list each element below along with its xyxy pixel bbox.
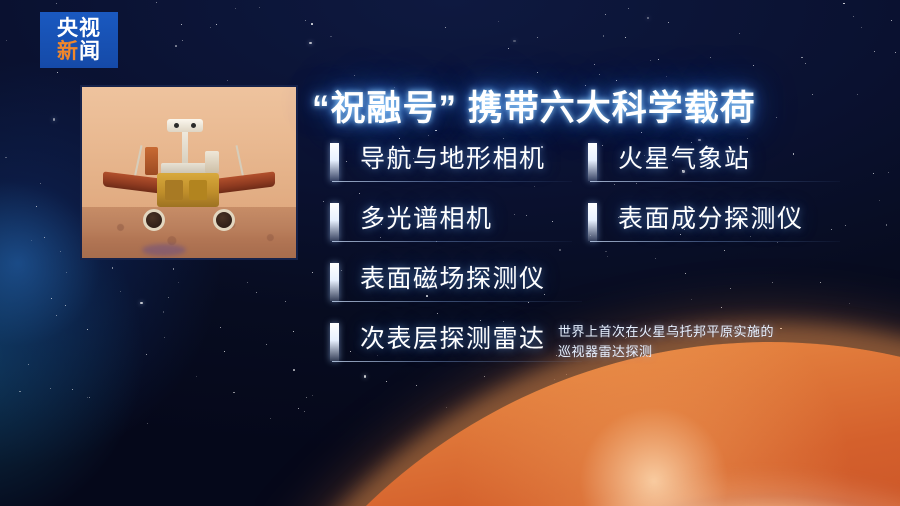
payload-label: 表面成分探测仪	[618, 199, 804, 235]
logo-char-yang: 央	[57, 18, 79, 39]
payload-label: 表面磁场探测仪	[360, 259, 546, 295]
bullet-bar-icon	[330, 203, 339, 241]
payload-item-surface-composition-detector[interactable]: 表面成分探测仪	[588, 200, 846, 246]
bullet-bar-icon	[330, 263, 339, 301]
payload-label: 导航与地形相机	[360, 139, 546, 175]
logo-char-shi: 视	[79, 18, 101, 39]
payload-item-nav-terrain-camera[interactable]: 导航与地形相机	[330, 140, 578, 186]
cctv-news-logo[interactable]: 央 视 新 闻	[40, 12, 118, 68]
rover-photo	[80, 85, 298, 260]
logo-line-two: 新 闻	[57, 41, 101, 62]
underline-rule	[332, 241, 572, 242]
underline-rule	[590, 181, 840, 182]
underline-rule	[590, 241, 840, 242]
logo-char-wen: 闻	[79, 41, 101, 62]
payload-item-subsurface-radar[interactable]: 次表层探测雷达	[330, 320, 588, 366]
solar-panel-right	[217, 171, 275, 193]
underline-rule	[332, 181, 572, 182]
payload-item-mars-weather-station[interactable]: 火星气象站	[588, 140, 846, 186]
zhurong-rover-icon	[109, 111, 269, 247]
payload-label: 次表层探测雷达	[360, 319, 546, 355]
broadcast-graphic-stage: 央 视 新 闻 “祝融号” 携带六大科学载荷 导航与地形相机火星气象站多光谱相机…	[0, 0, 900, 506]
logo-line-one: 央 视	[57, 18, 101, 39]
antenna-left	[133, 145, 142, 179]
bullet-bar-icon	[330, 143, 339, 181]
instrument-cylinder	[145, 147, 158, 175]
radar-note: 世界上首次在火星乌托邦平原实施的 巡视器雷达探测	[558, 322, 858, 361]
camera-head	[167, 119, 203, 132]
radar-note-line-2: 巡视器雷达探测	[558, 342, 858, 362]
instrument-canister	[205, 151, 219, 173]
payload-item-surface-magnetic-field-detector[interactable]: 表面磁场探测仪	[330, 260, 588, 306]
bullet-bar-icon	[330, 323, 339, 361]
payload-label: 多光谱相机	[360, 199, 493, 235]
radar-note-line-1: 世界上首次在火星乌托邦平原实施的	[558, 322, 858, 342]
logo-char-xin: 新	[57, 41, 79, 62]
bullet-bar-icon	[588, 203, 597, 241]
rover-body	[157, 173, 219, 207]
page-title: “祝融号” 携带六大科学载荷	[312, 80, 756, 131]
wheel-left	[143, 209, 165, 231]
payload-label: 火星气象站	[618, 139, 751, 175]
bullet-bar-icon	[588, 143, 597, 181]
underline-rule	[332, 361, 582, 362]
wheel-right	[213, 209, 235, 231]
antenna-right	[235, 145, 244, 179]
payload-item-multispectral-camera[interactable]: 多光谱相机	[330, 200, 578, 246]
underline-rule	[332, 301, 582, 302]
